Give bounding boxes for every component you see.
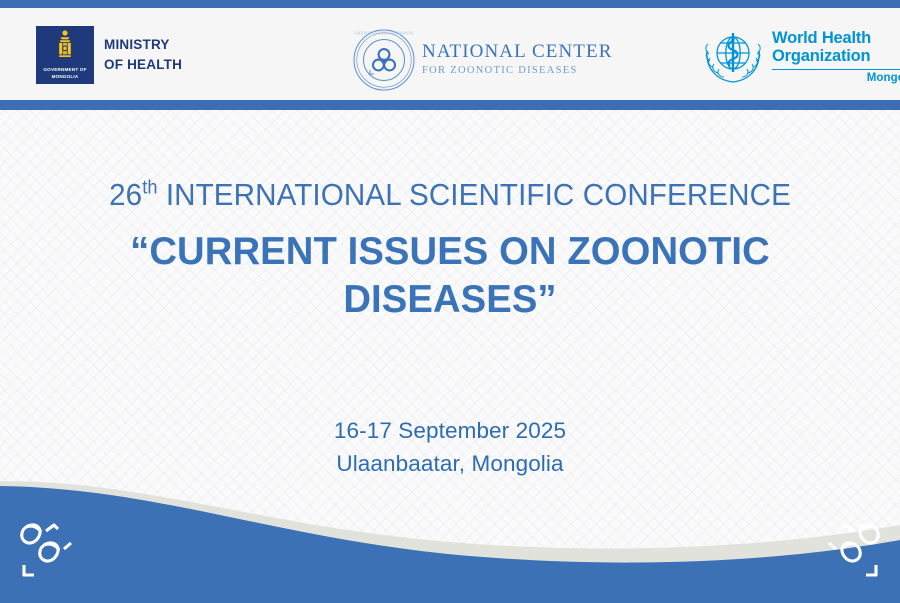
event-details: 16-17 September 2025 Ulaanbaatar, Mongol… — [0, 415, 900, 481]
nczd-name-line1: NATIONAL CENTER — [422, 42, 612, 63]
who-name-line1: World Health — [772, 30, 900, 48]
conference-subtitle: 26th INTERNATIONAL SCIENTIFIC CONFERENCE — [20, 177, 880, 213]
nczd-name-line2: FOR ZOONOTIC DISEASES — [422, 65, 612, 78]
who-divider — [772, 69, 900, 71]
svg-text:NATIONAL CENTER FOR ZOONOTIC: NATIONAL CENTER FOR ZOONOTIC — [354, 32, 415, 36]
emblem-caption-line2: MONGOLIA — [36, 75, 94, 80]
conference-title-slide: GOVERNMENT OF MONGOLIA MINISTRY OF HEALT… — [0, 0, 900, 603]
bottom-wave-decoration — [0, 478, 900, 603]
event-location: Ulaanbaatar, Mongolia — [0, 448, 900, 481]
nczd-circular-seal: NATIONAL CENTER FOR ZOONOTIC 1931 — [352, 28, 416, 92]
mongolian-knot-ornament — [808, 519, 886, 585]
nczd-wordmark: NATIONAL CENTER FOR ZOONOTIC DISEASES — [422, 42, 612, 77]
who-country-label: Mongolia — [772, 72, 900, 84]
ministry-of-health-logo: GOVERNMENT OF MONGOLIA MINISTRY OF HEALT… — [36, 26, 182, 84]
emblem-caption-line1: GOVERNMENT OF — [36, 68, 94, 73]
conference-subtitle-text: INTERNATIONAL SCIENTIFIC CONFERENCE — [158, 177, 791, 212]
soyombo-icon — [50, 29, 80, 63]
top-accent-rule — [0, 0, 900, 8]
conference-ordinal: th — [142, 178, 157, 199]
who-emblem — [702, 28, 764, 86]
header-bottom-accent-rule — [0, 100, 900, 110]
who-name-line2: Organization — [772, 48, 900, 66]
ministry-of-health-wordmark: MINISTRY OF HEALTH — [104, 35, 182, 74]
event-dates: 16-17 September 2025 — [0, 415, 900, 448]
mongolian-knot-ornament — [14, 519, 92, 585]
ministry-name-line1: MINISTRY — [104, 35, 182, 55]
who-logo: World Health Organization Mongolia — [702, 28, 900, 86]
nczd-logo: NATIONAL CENTER FOR ZOONOTIC 1931 NATION… — [352, 28, 612, 92]
page-title: “CURRENT ISSUES ON ZOONOTIC DISEASES” — [68, 228, 832, 325]
who-wordmark: World Health Organization Mongolia — [772, 30, 900, 84]
conference-number: 26 — [109, 177, 142, 212]
header-logo-band: GOVERNMENT OF MONGOLIA MINISTRY OF HEALT… — [0, 8, 900, 100]
ministry-name-line2: OF HEALTH — [104, 55, 182, 75]
mongolia-soyombo-emblem: GOVERNMENT OF MONGOLIA — [36, 26, 94, 84]
